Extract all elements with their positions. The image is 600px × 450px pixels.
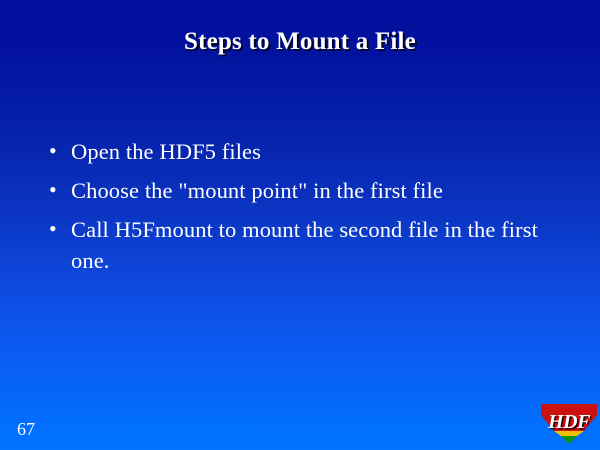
presentation-slide: Steps to Mount a File • Open the HDF5 fi… bbox=[0, 0, 600, 450]
hdf-logo-text: HDF bbox=[540, 412, 598, 432]
list-item: • Call H5Fmount to mount the second file… bbox=[45, 214, 560, 276]
bullet-point-icon: • bbox=[45, 136, 71, 166]
logo-band-bottom bbox=[561, 436, 577, 444]
page-number: 67 bbox=[17, 419, 35, 439]
bullet-point-icon: • bbox=[45, 175, 71, 205]
list-item-label: Open the HDF5 files bbox=[71, 136, 560, 167]
list-item: • Choose the "mount point" in the first … bbox=[45, 175, 560, 206]
list-item: • Open the HDF5 files bbox=[45, 136, 560, 167]
slide-title: Steps to Mount a File bbox=[0, 28, 600, 56]
hdf-logo: HDF bbox=[540, 403, 598, 445]
bullet-list: • Open the HDF5 files • Choose the "moun… bbox=[45, 136, 560, 284]
list-item-label: Call H5Fmount to mount the second file i… bbox=[71, 214, 560, 276]
bullet-point-icon: • bbox=[45, 214, 71, 244]
list-item-label: Choose the "mount point" in the first fi… bbox=[71, 175, 560, 206]
